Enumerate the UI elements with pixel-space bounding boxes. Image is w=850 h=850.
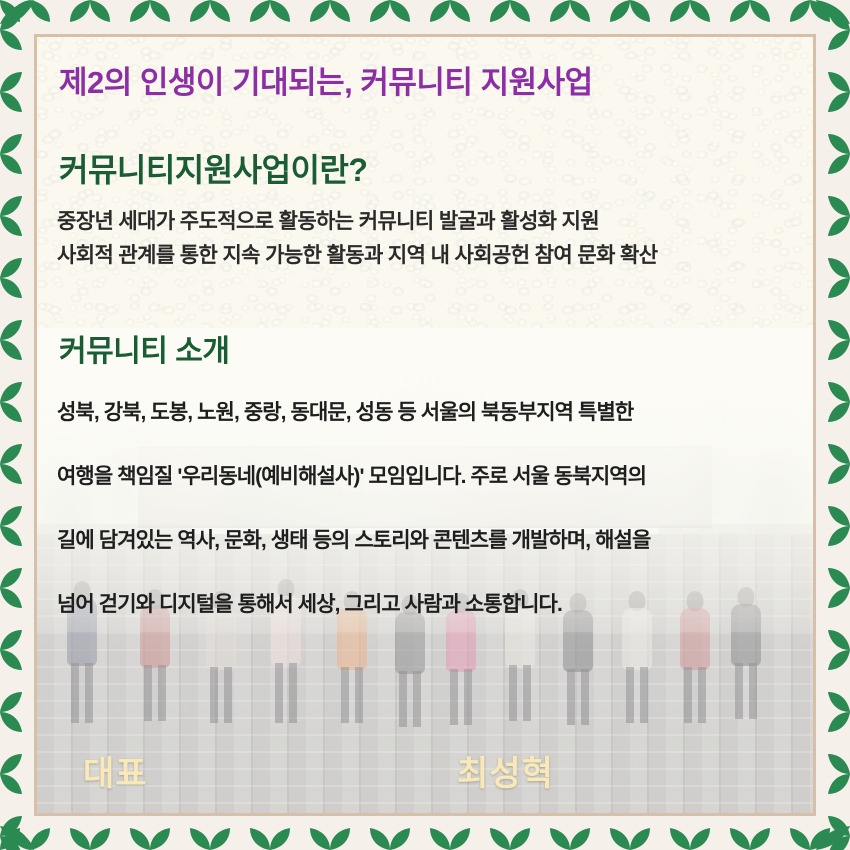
section-heading-about: 커뮤니티지원사업이란?	[59, 145, 367, 191]
leaf-corner-bottom-left	[0, 816, 34, 850]
leaf-corner-top-right	[816, 0, 850, 34]
intro-line: 여행을 책임질 '우리동네(예비해설사)' 모임입니다. 주로 서울 동북지역의	[57, 445, 801, 509]
intro-description: 성북, 강북, 도봉, 노원, 중랑, 동대문, 성동 등 서울의 북동부지역 …	[57, 381, 801, 637]
card-content: 제2의 인생이 기대되는, 커뮤니티 지원사업 커뮤니티지원사업이란? 중장년 …	[37, 37, 813, 813]
about-line: 사회적 관계를 통한 지속 가능한 활동과 지역 내 사회공헌 참여 문화 확산	[57, 239, 799, 273]
credit-row: 대표 최성혁	[37, 745, 813, 795]
leaf-border-bottom	[0, 816, 850, 850]
leaf-border-right	[816, 0, 850, 850]
intro-line: 성북, 강북, 도봉, 노원, 중랑, 동대문, 성동 등 서울의 북동부지역 …	[57, 381, 801, 445]
leaf-corner-bottom-right	[816, 816, 850, 850]
leaf-border-top	[0, 0, 850, 34]
promo-card: SEOUL GRAND PARK	[0, 0, 850, 850]
about-line: 중장년 세대가 주도적으로 활동하는 커뮤니티 발굴과 활성화 지원	[57, 205, 799, 239]
intro-line: 넘어 걷기와 디지털을 통해서 세상, 그리고 사람과 소통합니다.	[57, 573, 801, 637]
intro-line: 길에 담겨있는 역사, 문화, 생태 등의 스토리와 콘텐츠를 개발하며, 해설…	[57, 509, 801, 573]
leaf-corner-top-left	[0, 0, 34, 34]
credit-role-label: 대표	[83, 746, 148, 795]
leaf-border-left	[0, 0, 34, 850]
card-body: SEOUL GRAND PARK	[34, 34, 816, 816]
section-heading-intro: 커뮤니티 소개	[59, 326, 229, 370]
about-description: 중장년 세대가 주도적으로 활동하는 커뮤니티 발굴과 활성화 지원 사회적 관…	[57, 205, 799, 273]
page-title: 제2의 인생이 기대되는, 커뮤니티 지원사업	[59, 57, 593, 102]
credit-person-name: 최성혁	[457, 746, 554, 795]
